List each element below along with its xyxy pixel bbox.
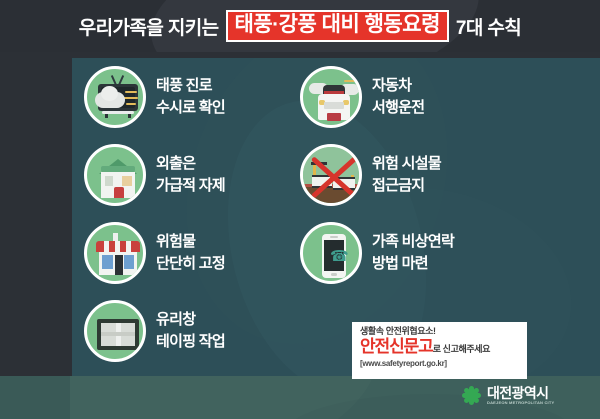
pinwheel-emblem-icon bbox=[462, 386, 481, 405]
tip-label-5: 자동차 서행운전 bbox=[372, 75, 424, 119]
callout-main-line: 안전신문고로 신고해주세요 bbox=[360, 338, 520, 357]
tip-line2-2: 가급적 자제 bbox=[156, 175, 225, 197]
title-suffix: 7대 수칙 bbox=[456, 13, 521, 40]
house-icon bbox=[84, 144, 146, 206]
window-tape-icon bbox=[84, 300, 146, 362]
tip-item-5: 자동차 서행운전 bbox=[300, 66, 424, 128]
callout-suffix: 로 신고해주세요 bbox=[433, 344, 490, 354]
tip-line1-6: 위험 시설물 bbox=[372, 155, 441, 172]
tip-item-2: 외출은 가급적 자제 bbox=[84, 144, 225, 206]
tip-line1-5: 자동차 bbox=[372, 77, 411, 94]
tip-line1-3: 위험물 bbox=[156, 233, 195, 250]
tip-label-2: 외출은 가급적 자제 bbox=[156, 153, 225, 197]
title-highlight: 태풍·강풍 대비 행동요령 bbox=[226, 10, 449, 42]
tip-line2-4: 테이핑 작업 bbox=[156, 331, 225, 353]
tip-line2-7: 방법 마련 bbox=[372, 253, 454, 275]
title-prefix: 우리가족을 지키는 bbox=[79, 13, 219, 40]
city-logo-text: 대전광역시 DAEJEON METROPOLITAN CITY bbox=[487, 386, 554, 405]
tip-label-3: 위험물 단단히 고정 bbox=[156, 231, 225, 275]
city-logo: 대전광역시 DAEJEON METROPOLITAN CITY bbox=[462, 386, 554, 405]
tip-line1-4: 유리창 bbox=[156, 311, 195, 328]
tip-line2-6: 접근금지 bbox=[372, 175, 441, 197]
smartphone-call-icon: ☎ bbox=[300, 222, 362, 284]
tip-label-1: 태풍 진로 수시로 확인 bbox=[156, 75, 225, 119]
band-left-shade bbox=[0, 376, 70, 419]
tip-line1-2: 외출은 bbox=[156, 155, 195, 172]
tv-storm-icon bbox=[84, 66, 146, 128]
poster-root: 우리가족을 지키는 태풍·강풍 대비 행동요령 7대 수칙 bbox=[0, 0, 600, 419]
tip-line1-1: 태풍 진로 bbox=[156, 77, 212, 94]
storefront-icon bbox=[84, 222, 146, 284]
tip-item-4: 유리창 테이핑 작업 bbox=[84, 300, 225, 362]
city-name-ko: 대전광역시 bbox=[487, 386, 554, 401]
tip-line2-3: 단단히 고정 bbox=[156, 253, 225, 275]
tip-line2-5: 서행운전 bbox=[372, 97, 424, 119]
tip-item-3: 위험물 단단히 고정 bbox=[84, 222, 225, 284]
callout-brand: 안전신문고 bbox=[360, 337, 433, 356]
safety-report-callout: 생활속 안전위협요소! 안전신문고로 신고해주세요 [www.safetyrep… bbox=[352, 322, 527, 379]
tip-item-6: 위험 시설물 접근금지 bbox=[300, 144, 441, 206]
car-icon bbox=[300, 66, 362, 128]
tip-item-7: ☎ 가족 비상연락 방법 마련 bbox=[300, 222, 454, 284]
callout-url[interactable]: [www.safetyreport.go.kr] bbox=[360, 359, 520, 368]
city-name-en: DAEJEON METROPOLITAN CITY bbox=[487, 401, 554, 405]
tip-label-6: 위험 시설물 접근금지 bbox=[372, 153, 441, 197]
tip-label-7: 가족 비상연락 방법 마련 bbox=[372, 231, 454, 275]
tip-item-1: 태풍 진로 수시로 확인 bbox=[84, 66, 225, 128]
poster-title: 우리가족을 지키는 태풍·강풍 대비 행동요령 7대 수칙 bbox=[0, 0, 600, 52]
tip-label-4: 유리창 테이핑 작업 bbox=[156, 309, 225, 353]
tip-line2-1: 수시로 확인 bbox=[156, 97, 225, 119]
tip-line1-7: 가족 비상연락 bbox=[372, 233, 454, 250]
title-bar: 우리가족을 지키는 태풍·강풍 대비 행동요령 7대 수칙 bbox=[0, 0, 600, 52]
callout-lead: 생활속 안전위협요소! bbox=[360, 327, 520, 337]
construction-forbidden-icon bbox=[300, 144, 362, 206]
